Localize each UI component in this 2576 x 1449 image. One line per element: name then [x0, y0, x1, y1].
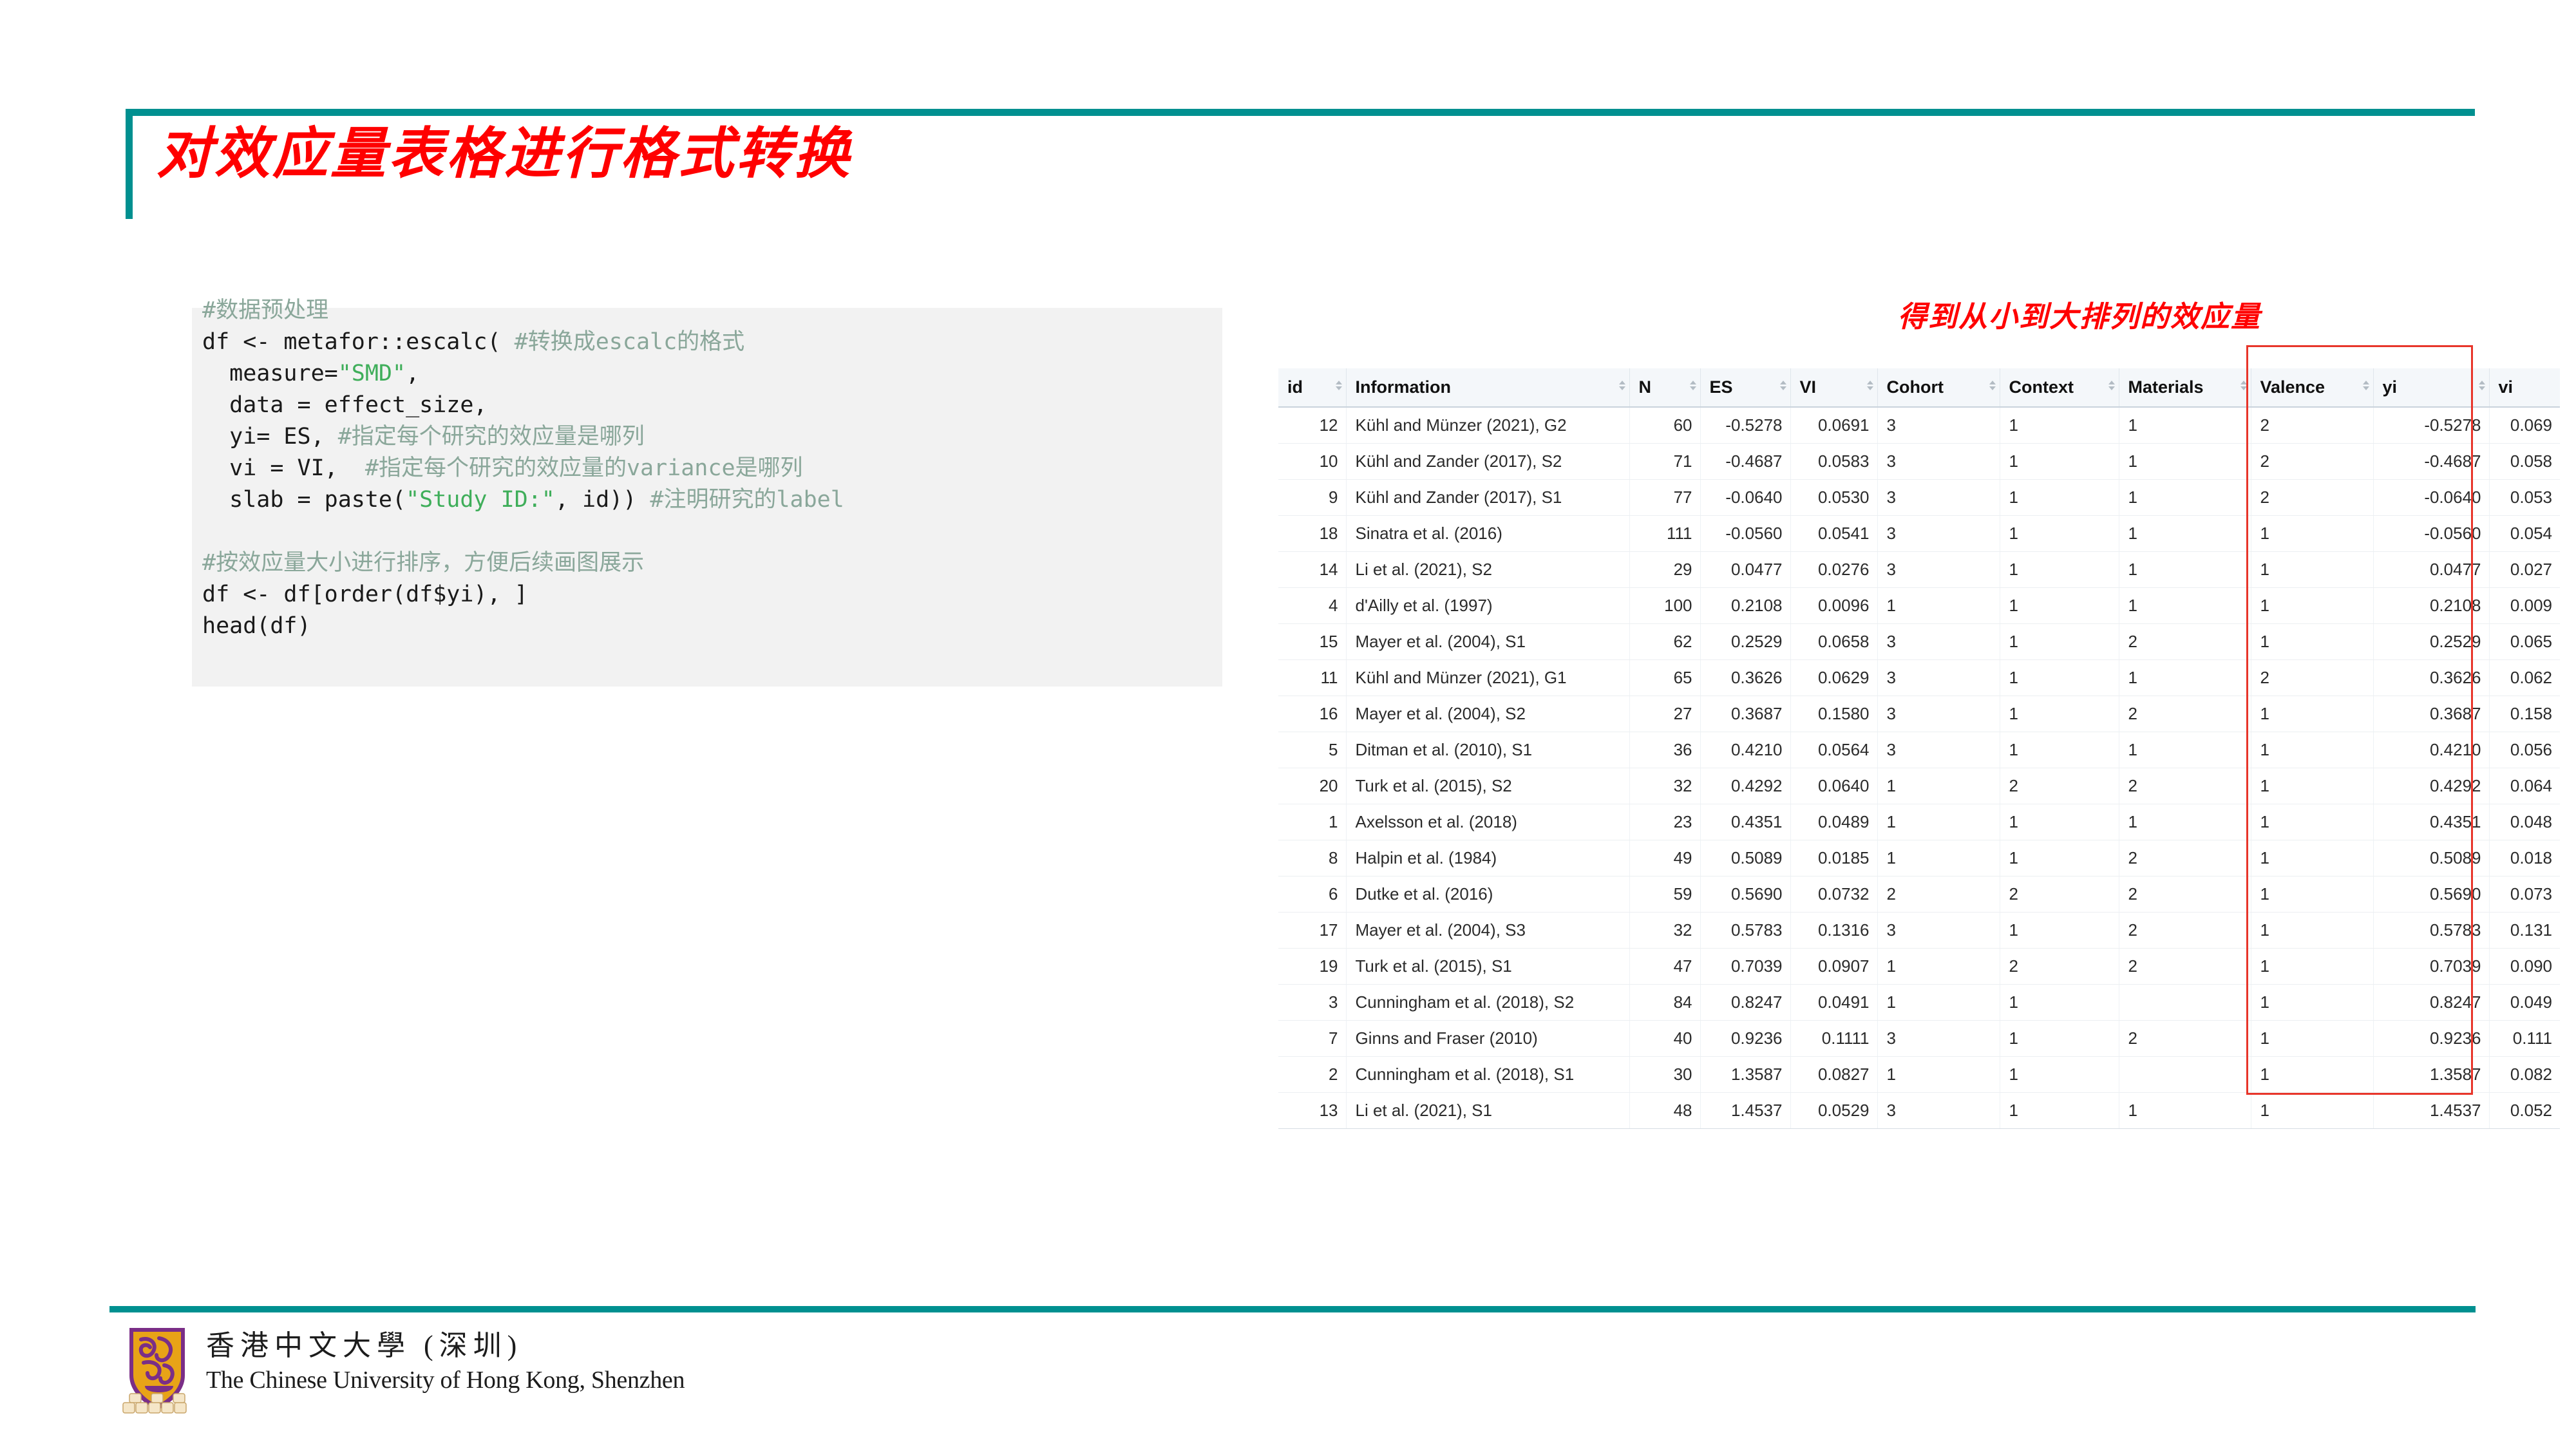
column-header-n[interactable]: N [1629, 368, 1700, 407]
cell-context: 2 [2000, 768, 2119, 804]
cell-es: -0.0640 [1700, 480, 1790, 516]
cell-materials: 1 [2119, 480, 2251, 516]
cell-es: 1.3587 [1700, 1057, 1790, 1093]
cell-vi: 0.052 [2489, 1093, 2560, 1129]
cell-n: 23 [1629, 804, 1700, 840]
table-row[interactable]: 17Mayer et al. (2004), S3320.57830.13163… [1278, 913, 2560, 949]
cell-yi: 0.4351 [2373, 804, 2489, 840]
cell-id: 10 [1278, 444, 1346, 480]
cell-yi: -0.0640 [2373, 480, 2489, 516]
cell-information: Li et al. (2021), S2 [1346, 552, 1629, 588]
cell-cohort: 3 [1877, 552, 2000, 588]
column-header-label: Materials [2128, 377, 2204, 397]
cell-id: 2 [1278, 1057, 1346, 1093]
column-header-label: id [1287, 377, 1303, 397]
cell-vi: 0.048 [2489, 804, 2560, 840]
column-header-es[interactable]: ES [1700, 368, 1790, 407]
cell-vi_raw: 0.0529 [1790, 1093, 1877, 1129]
cuhk-shield-logo [119, 1325, 195, 1417]
cell-information: Turk et al. (2015), S2 [1346, 768, 1629, 804]
cell-cohort: 3 [1877, 480, 2000, 516]
cell-valence: 1 [2251, 913, 2373, 949]
cell-vi: 0.158 [2489, 696, 2560, 732]
cell-information: Kühl and Zander (2017), S2 [1346, 444, 1629, 480]
cell-id: 4 [1278, 588, 1346, 624]
table-row[interactable]: 3Cunningham et al. (2018), S2840.82470.0… [1278, 985, 2560, 1021]
cell-n: 60 [1629, 407, 1700, 444]
sort-toggle-icon[interactable] [2479, 381, 2485, 395]
header-rule [126, 109, 2475, 116]
cell-vi: 0.053 [2489, 480, 2560, 516]
cell-materials [2119, 1057, 2251, 1093]
cell-cohort: 3 [1877, 696, 2000, 732]
footer-name-en: The Chinese University of Hong Kong, She… [206, 1366, 685, 1394]
cell-vi: 0.069 [2489, 407, 2560, 444]
column-header-label: ES [1710, 377, 1733, 397]
cell-information: Dutke et al. (2016) [1346, 876, 1629, 913]
cell-context: 1 [2000, 588, 2119, 624]
cell-materials: 2 [2119, 949, 2251, 985]
cell-materials: 2 [2119, 1021, 2251, 1057]
footer-university-name: 香港中文大學 (深圳) The Chinese University of Ho… [206, 1328, 685, 1394]
cell-id: 7 [1278, 1021, 1346, 1057]
cell-yi: 0.0477 [2373, 552, 2489, 588]
table-row[interactable]: 1Axelsson et al. (2018)230.43510.0489111… [1278, 804, 2560, 840]
cell-id: 12 [1278, 407, 1346, 444]
cell-valence: 1 [2251, 876, 2373, 913]
cell-n: 65 [1629, 660, 1700, 696]
cell-n: 36 [1629, 732, 1700, 768]
cell-n: 27 [1629, 696, 1700, 732]
cell-vi_raw: 0.0907 [1790, 949, 1877, 985]
cell-vi_raw: 0.0827 [1790, 1057, 1877, 1093]
sorted-effect-size-annotation: 得到从小到大排列的效应量 [1898, 293, 2261, 335]
cell-context: 1 [2000, 1057, 2119, 1093]
cell-es: 0.0477 [1700, 552, 1790, 588]
column-header-id[interactable]: id [1278, 368, 1346, 407]
table-row[interactable]: 20Turk et al. (2015), S2320.42920.064012… [1278, 768, 2560, 804]
cell-es: 0.4292 [1700, 768, 1790, 804]
cell-vi: 0.065 [2489, 624, 2560, 660]
cell-information: Cunningham et al. (2018), S2 [1346, 985, 1629, 1021]
cell-information: Mayer et al. (2004), S1 [1346, 624, 1629, 660]
cell-information: Kühl and Münzer (2021), G1 [1346, 660, 1629, 696]
cell-information: Mayer et al. (2004), S2 [1346, 696, 1629, 732]
cell-materials: 2 [2119, 913, 2251, 949]
cell-vi: 0.082 [2489, 1057, 2560, 1093]
sort-toggle-icon[interactable] [1989, 381, 1996, 395]
cell-cohort: 3 [1877, 444, 2000, 480]
sort-toggle-icon[interactable] [1336, 381, 1342, 395]
cell-n: 29 [1629, 552, 1700, 588]
cell-es: 0.8247 [1700, 985, 1790, 1021]
cell-cohort: 1 [1877, 588, 2000, 624]
cell-context: 1 [2000, 732, 2119, 768]
cell-context: 1 [2000, 624, 2119, 660]
cell-information: Ditman et al. (2010), S1 [1346, 732, 1629, 768]
cell-valence: 1 [2251, 552, 2373, 588]
table-row[interactable]: 13Li et al. (2021), S1481.45370.05293111… [1278, 1093, 2560, 1129]
cell-id: 13 [1278, 1093, 1346, 1129]
cell-id: 8 [1278, 840, 1346, 876]
table-row[interactable]: 11Kühl and Münzer (2021), G1650.36260.06… [1278, 660, 2560, 696]
cell-vi_raw: 0.0691 [1790, 407, 1877, 444]
cell-vi: 0.073 [2489, 876, 2560, 913]
cell-context: 1 [2000, 985, 2119, 1021]
cell-vi: 0.111 [2489, 1021, 2560, 1057]
cell-materials: 1 [2119, 444, 2251, 480]
cell-yi: 0.5690 [2373, 876, 2489, 913]
cell-yi: -0.5278 [2373, 407, 2489, 444]
cell-id: 5 [1278, 732, 1346, 768]
cell-context: 1 [2000, 913, 2119, 949]
cell-id: 14 [1278, 552, 1346, 588]
cell-valence: 1 [2251, 696, 2373, 732]
cell-vi: 0.090 [2489, 949, 2560, 985]
column-header-valence[interactable]: Valence [2251, 368, 2373, 407]
cell-es: 1.4537 [1700, 1093, 1790, 1129]
cell-n: 71 [1629, 444, 1700, 480]
cell-cohort: 3 [1877, 1093, 2000, 1129]
column-header-vi_raw[interactable]: VI [1790, 368, 1877, 407]
cell-es: 0.3687 [1700, 696, 1790, 732]
cell-es: 0.9236 [1700, 1021, 1790, 1057]
cell-materials: 2 [2119, 768, 2251, 804]
cell-cohort: 1 [1877, 985, 2000, 1021]
cell-vi_raw: 0.0564 [1790, 732, 1877, 768]
cell-materials: 2 [2119, 840, 2251, 876]
cell-id: 16 [1278, 696, 1346, 732]
cell-n: 59 [1629, 876, 1700, 913]
cell-vi_raw: 0.0640 [1790, 768, 1877, 804]
cell-cohort: 3 [1877, 407, 2000, 444]
cell-n: 100 [1629, 588, 1700, 624]
cell-n: 62 [1629, 624, 1700, 660]
table-row[interactable]: 4d'Ailly et al. (1997)1000.21080.0096111… [1278, 588, 2560, 624]
cell-yi: 0.5783 [2373, 913, 2489, 949]
column-header-materials[interactable]: Materials [2119, 368, 2251, 407]
cell-es: 0.2529 [1700, 624, 1790, 660]
cell-vi_raw: 0.0096 [1790, 588, 1877, 624]
cell-n: 84 [1629, 985, 1700, 1021]
column-header-label: N [1639, 377, 1652, 397]
cell-materials: 1 [2119, 804, 2251, 840]
cell-n: 111 [1629, 516, 1700, 552]
cell-yi: 0.2108 [2373, 588, 2489, 624]
cell-id: 3 [1278, 985, 1346, 1021]
cell-vi_raw: 0.0732 [1790, 876, 1877, 913]
cell-cohort: 3 [1877, 1021, 2000, 1057]
cell-valence: 1 [2251, 840, 2373, 876]
cell-vi: 0.009 [2489, 588, 2560, 624]
cell-valence: 1 [2251, 516, 2373, 552]
cell-valence: 2 [2251, 444, 2373, 480]
cell-context: 1 [2000, 804, 2119, 840]
cell-es: 0.2108 [1700, 588, 1790, 624]
table-row[interactable]: 18Sinatra et al. (2016)111-0.05600.05413… [1278, 516, 2560, 552]
cell-id: 11 [1278, 660, 1346, 696]
sort-toggle-icon[interactable] [1867, 381, 1873, 395]
footer-rule [109, 1306, 2476, 1312]
table-row[interactable]: 15Mayer et al. (2004), S1620.25290.06583… [1278, 624, 2560, 660]
cell-valence: 1 [2251, 1093, 2373, 1129]
table-row[interactable]: 16Mayer et al. (2004), S2270.36870.15803… [1278, 696, 2560, 732]
page-title: 对效应量表格进行格式转换 [156, 120, 852, 189]
column-header-yi[interactable]: yi [2373, 368, 2489, 407]
cell-id: 6 [1278, 876, 1346, 913]
cell-information: Sinatra et al. (2016) [1346, 516, 1629, 552]
cell-n: 47 [1629, 949, 1700, 985]
cell-information: Kühl and Münzer (2021), G2 [1346, 407, 1629, 444]
cell-cohort: 2 [1877, 876, 2000, 913]
cell-id: 1 [1278, 804, 1346, 840]
column-header-label: Cohort [1887, 377, 1944, 397]
sort-toggle-icon[interactable] [1619, 381, 1625, 395]
cell-materials: 1 [2119, 407, 2251, 444]
cell-yi: 1.4537 [2373, 1093, 2489, 1129]
sort-toggle-icon[interactable] [2240, 381, 2247, 395]
cell-vi_raw: 0.0489 [1790, 804, 1877, 840]
cell-valence: 1 [2251, 1021, 2373, 1057]
column-header-vi[interactable]: vi [2489, 368, 2560, 407]
cell-information: Turk et al. (2015), S1 [1346, 949, 1629, 985]
cell-materials [2119, 985, 2251, 1021]
cell-information: Kühl and Zander (2017), S1 [1346, 480, 1629, 516]
column-header-label: Valence [2260, 377, 2325, 397]
cell-vi_raw: 0.1316 [1790, 913, 1877, 949]
cell-es: 0.4210 [1700, 732, 1790, 768]
cell-context: 1 [2000, 444, 2119, 480]
cell-es: -0.4687 [1700, 444, 1790, 480]
column-header-label: vi [2499, 377, 2514, 397]
cell-n: 77 [1629, 480, 1700, 516]
column-header-cohort[interactable]: Cohort [1877, 368, 2000, 407]
cell-id: 20 [1278, 768, 1346, 804]
effect-size-table[interactable]: idInformationNESVICohortContextMaterials… [1278, 368, 2560, 1129]
footer-name-cn: 香港中文大學 (深圳) [206, 1328, 685, 1363]
cell-valence: 2 [2251, 660, 2373, 696]
cell-es: 0.3626 [1700, 660, 1790, 696]
cell-vi_raw: 0.0185 [1790, 840, 1877, 876]
column-header-label: Information [1356, 377, 1452, 397]
cell-materials: 2 [2119, 624, 2251, 660]
cell-yi: 0.5089 [2373, 840, 2489, 876]
cell-materials: 2 [2119, 876, 2251, 913]
cell-yi: 0.3626 [2373, 660, 2489, 696]
cell-n: 30 [1629, 1057, 1700, 1093]
cell-n: 32 [1629, 913, 1700, 949]
cell-cohort: 3 [1877, 624, 2000, 660]
cell-id: 15 [1278, 624, 1346, 660]
cell-materials: 1 [2119, 660, 2251, 696]
cell-n: 32 [1629, 768, 1700, 804]
cell-cohort: 1 [1877, 1057, 2000, 1093]
table-row[interactable]: 19Turk et al. (2015), S1470.70390.090712… [1278, 949, 2560, 985]
cell-context: 1 [2000, 552, 2119, 588]
cell-materials: 1 [2119, 516, 2251, 552]
cell-information: Ginns and Fraser (2010) [1346, 1021, 1629, 1057]
cell-n: 40 [1629, 1021, 1700, 1057]
cell-vi_raw: 0.0583 [1790, 444, 1877, 480]
table-body: 12Kühl and Münzer (2021), G260-0.52780.0… [1278, 407, 2560, 1129]
cell-valence: 1 [2251, 949, 2373, 985]
cell-materials: 1 [2119, 1093, 2251, 1129]
sort-toggle-icon[interactable] [2108, 381, 2115, 395]
cell-es: -0.5278 [1700, 407, 1790, 444]
cell-vi: 0.054 [2489, 516, 2560, 552]
cell-yi: -0.0560 [2373, 516, 2489, 552]
cell-cohort: 1 [1877, 840, 2000, 876]
cell-context: 1 [2000, 660, 2119, 696]
cell-vi_raw: 0.1111 [1790, 1021, 1877, 1057]
cell-materials: 1 [2119, 588, 2251, 624]
cell-id: 17 [1278, 913, 1346, 949]
sort-toggle-icon[interactable] [1690, 381, 1696, 395]
cell-context: 1 [2000, 480, 2119, 516]
cell-context: 1 [2000, 516, 2119, 552]
cell-vi: 0.058 [2489, 444, 2560, 480]
cell-information: Cunningham et al. (2018), S1 [1346, 1057, 1629, 1093]
cell-context: 2 [2000, 949, 2119, 985]
cell-vi_raw: 0.0629 [1790, 660, 1877, 696]
cell-valence: 1 [2251, 732, 2373, 768]
cell-id: 19 [1278, 949, 1346, 985]
table-header: idInformationNESVICohortContextMaterials… [1278, 368, 2560, 407]
cell-information: Mayer et al. (2004), S3 [1346, 913, 1629, 949]
table-row[interactable]: 10Kühl and Zander (2017), S271-0.46870.0… [1278, 444, 2560, 480]
column-header-label: yi [2383, 377, 2398, 397]
column-header-label: Context [2009, 377, 2074, 397]
cell-information: d'Ailly et al. (1997) [1346, 588, 1629, 624]
table-row[interactable]: 14Li et al. (2021), S2290.04770.02763111… [1278, 552, 2560, 588]
cell-materials: 1 [2119, 552, 2251, 588]
cell-valence: 1 [2251, 768, 2373, 804]
cell-yi: -0.4687 [2373, 444, 2489, 480]
cell-cohort: 3 [1877, 913, 2000, 949]
sort-toggle-icon[interactable] [2363, 381, 2369, 395]
cell-information: Axelsson et al. (2018) [1346, 804, 1629, 840]
r-code-snippet: #数据预处理 df <- metafor::escalc( #转换成escalc… [202, 295, 1233, 642]
cell-vi_raw: 0.0658 [1790, 624, 1877, 660]
cell-vi_raw: 0.0541 [1790, 516, 1877, 552]
cell-vi: 0.049 [2489, 985, 2560, 1021]
cell-cohort: 3 [1877, 660, 2000, 696]
cell-n: 48 [1629, 1093, 1700, 1129]
cell-context: 2 [2000, 876, 2119, 913]
cell-yi: 0.4292 [2373, 768, 2489, 804]
cell-id: 9 [1278, 480, 1346, 516]
cell-valence: 2 [2251, 480, 2373, 516]
cell-cohort: 3 [1877, 732, 2000, 768]
cell-valence: 2 [2251, 407, 2373, 444]
cell-cohort: 3 [1877, 516, 2000, 552]
cell-information: Li et al. (2021), S1 [1346, 1093, 1629, 1129]
cell-yi: 0.7039 [2373, 949, 2489, 985]
cell-es: 0.4351 [1700, 804, 1790, 840]
cell-cohort: 1 [1877, 804, 2000, 840]
cell-vi_raw: 0.0530 [1790, 480, 1877, 516]
cell-materials: 2 [2119, 696, 2251, 732]
sort-toggle-icon[interactable] [1780, 381, 1786, 395]
cell-yi: 0.2529 [2373, 624, 2489, 660]
cell-valence: 1 [2251, 804, 2373, 840]
table-row[interactable]: 6Dutke et al. (2016)590.56900.073222210.… [1278, 876, 2560, 913]
cell-yi: 0.9236 [2373, 1021, 2489, 1057]
cell-cohort: 1 [1877, 949, 2000, 985]
cell-vi: 0.018 [2489, 840, 2560, 876]
cell-materials: 1 [2119, 732, 2251, 768]
cell-vi_raw: 0.0491 [1790, 985, 1877, 1021]
cell-context: 1 [2000, 1093, 2119, 1129]
cell-context: 1 [2000, 1021, 2119, 1057]
cell-valence: 1 [2251, 624, 2373, 660]
table-row[interactable]: 8Halpin et al. (1984)490.50890.018511210… [1278, 840, 2560, 876]
cell-context: 1 [2000, 840, 2119, 876]
cell-yi: 0.3687 [2373, 696, 2489, 732]
cell-es: 0.7039 [1700, 949, 1790, 985]
cell-valence: 1 [2251, 985, 2373, 1021]
title-accent-bar [126, 116, 133, 219]
cell-vi: 0.062 [2489, 660, 2560, 696]
cell-information: Halpin et al. (1984) [1346, 840, 1629, 876]
cell-id: 18 [1278, 516, 1346, 552]
column-header-context[interactable]: Context [2000, 368, 2119, 407]
table-row[interactable]: 7Ginns and Fraser (2010)400.92360.111131… [1278, 1021, 2560, 1057]
cell-cohort: 1 [1877, 768, 2000, 804]
cell-vi_raw: 0.0276 [1790, 552, 1877, 588]
cell-vi: 0.056 [2489, 732, 2560, 768]
cell-vi: 0.027 [2489, 552, 2560, 588]
column-header-label: VI [1800, 377, 1817, 397]
table-row[interactable]: 2Cunningham et al. (2018), S1301.35870.0… [1278, 1057, 2560, 1093]
column-header-information[interactable]: Information [1346, 368, 1629, 407]
cell-vi_raw: 0.1580 [1790, 696, 1877, 732]
cell-vi: 0.131 [2489, 913, 2560, 949]
cell-context: 1 [2000, 696, 2119, 732]
table-row[interactable]: 12Kühl and Münzer (2021), G260-0.52780.0… [1278, 407, 2560, 444]
cell-yi: 0.8247 [2373, 985, 2489, 1021]
table-row[interactable]: 5Ditman et al. (2010), S1360.42100.05643… [1278, 732, 2560, 768]
table-header-row: idInformationNESVICohortContextMaterials… [1278, 368, 2560, 407]
cell-n: 49 [1629, 840, 1700, 876]
cell-valence: 1 [2251, 588, 2373, 624]
cell-es: 0.5089 [1700, 840, 1790, 876]
cell-vi: 0.064 [2489, 768, 2560, 804]
cell-es: 0.5690 [1700, 876, 1790, 913]
cell-es: 0.5783 [1700, 913, 1790, 949]
cell-valence: 1 [2251, 1057, 2373, 1093]
effect-size-table-container[interactable]: idInformationNESVICohortContextMaterials… [1278, 368, 2431, 1129]
cell-context: 1 [2000, 407, 2119, 444]
cell-es: -0.0560 [1700, 516, 1790, 552]
cell-yi: 1.3587 [2373, 1057, 2489, 1093]
table-row[interactable]: 9Kühl and Zander (2017), S177-0.06400.05… [1278, 480, 2560, 516]
cell-yi: 0.4210 [2373, 732, 2489, 768]
